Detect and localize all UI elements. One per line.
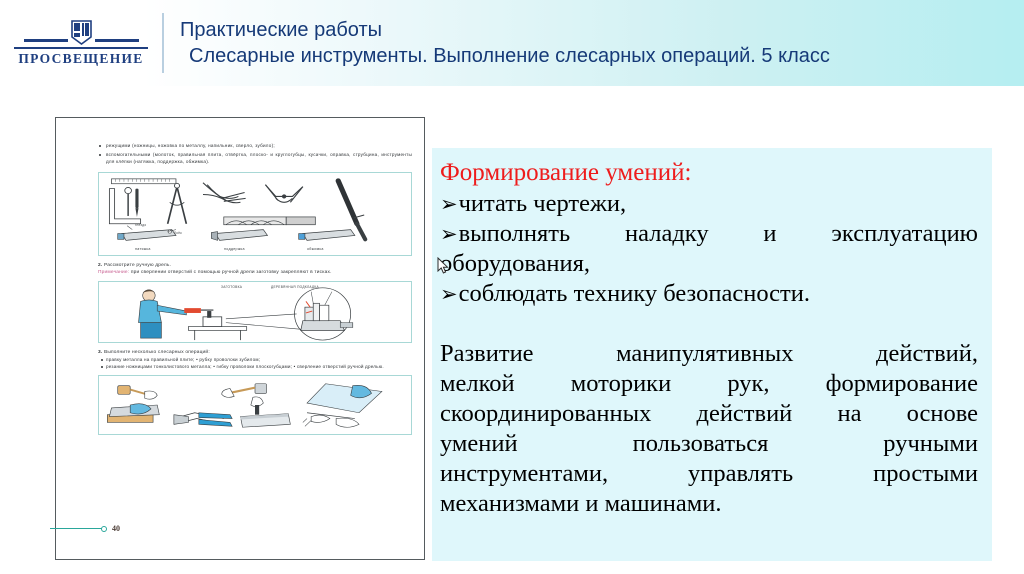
textbook-page-content: режущими (ножницы, ножовка по металлу, н… (56, 118, 424, 559)
skill-item-3: ➢ соблюдать технику безопасности. (440, 279, 978, 309)
figure-slesar-operations (98, 375, 412, 435)
slide-body: режущими (ножницы, ножовка по металлу, н… (0, 86, 1024, 574)
logo-underline (14, 47, 148, 49)
figure-caption-gnezdo: гнездо (135, 223, 146, 227)
figure-caption-podderzhka: поддержка (224, 247, 245, 251)
paragraph-line: скоординированных действий на основе (440, 399, 978, 429)
paragraph-line: инструментами, управлять простыми (440, 459, 978, 489)
list-item: вспомогательными (молоток, правильная пл… (98, 151, 412, 165)
paragraph-line: мелкой моторики рук, формирование (440, 369, 978, 399)
logo-rule-right (95, 39, 139, 42)
step-2-number: 2. (98, 263, 102, 268)
header-divider (162, 13, 164, 73)
skill-item-1: ➢ читать чертежи, (440, 189, 978, 219)
arrow-bullet-icon: ➢ (440, 189, 458, 219)
textbook-page-scan: режущими (ножницы, ножовка по металлу, н… (55, 117, 425, 560)
slide-header: ПРОСВЕЩЕНИЕ Практические работы Слесарны… (0, 0, 1024, 86)
figure-caption-obzhimka: обжимка (307, 247, 324, 251)
development-paragraph: Развитие манипулятивных действий, мелкой… (440, 339, 978, 519)
page-rule (50, 528, 102, 530)
list-item: резание ножницами тонколистового металла… (106, 363, 412, 370)
note-text: при сверлении отверстий с помощью ручной… (131, 270, 332, 275)
list-item: правку металла на правильной плите; • ру… (106, 356, 412, 363)
paragraph-line: механизмами и машинами. (440, 489, 978, 519)
skill-item-2-continuation: оборудования, (440, 249, 978, 279)
skill-item-label: читать чертежи, (459, 189, 627, 219)
step-3-text: Выполните несколько слесарных операций: (104, 350, 210, 355)
logo-mark (14, 19, 148, 45)
page-title: Практические работы (180, 17, 830, 43)
page-number: 40 (112, 524, 120, 533)
publisher-logo: ПРОСВЕЩЕНИЕ (0, 0, 162, 86)
book-shield-icon (71, 20, 92, 45)
logo-rule-left (24, 39, 68, 42)
textbook-step-2: 2. Рассмотрите ручную дрель. Примечание:… (98, 262, 412, 276)
figure-slesar-tools: гнездо боёк натяжка поддержка обжимка (98, 172, 412, 256)
figure-caption-boek: боёк (174, 231, 182, 235)
info-panel: Формирование умений: ➢ читать чертежи, ➢… (432, 148, 992, 561)
arrow-bullet-icon: ➢ (440, 219, 458, 249)
skill-item-label: выполнять наладку и эксплуатацию (459, 219, 978, 249)
list-item: режущими (ножницы, ножовка по металлу, н… (98, 142, 412, 149)
figure-hand-drill-vise: ЗАГОТОВКА ДЕРЕВЯННАЯ ПОДКЛАДКА (98, 281, 412, 343)
paragraph-line: умений пользоваться ручными (440, 429, 978, 459)
step-3-number: 3. (98, 350, 102, 355)
figure-caption-natyazhka: натяжка (135, 247, 151, 251)
logo-wordmark: ПРОСВЕЩЕНИЕ (18, 51, 143, 67)
page-dot-icon (101, 526, 107, 532)
tool-categories-list: режущими (ножницы, ножовка по металлу, н… (98, 142, 412, 166)
header-titles: Практические работы Слесарные инструмент… (180, 17, 830, 70)
step-2-text: Рассмотрите ручную дрель. (104, 263, 171, 268)
figure-caption-derevyannaya-podkladka: ДЕРЕВЯННАЯ ПОДКЛАДКА (271, 285, 319, 289)
textbook-step-3: 3. Выполните несколько слесарных операци… (98, 349, 412, 370)
page-subtitle: Слесарные инструменты. Выполнение слесар… (180, 43, 830, 70)
figure-caption-zagotovka: ЗАГОТОВКА (221, 285, 242, 289)
page-number-row: 40 (50, 524, 120, 533)
skill-item-label: соблюдать технику безопасности. (459, 279, 810, 309)
skill-item-2: ➢ выполнять наладку и эксплуатацию (440, 219, 978, 249)
arrow-bullet-icon: ➢ (440, 279, 458, 309)
step-3-sublist: правку металла на правильной плите; • ру… (98, 356, 412, 370)
note-label: Примечание: (98, 270, 129, 275)
skills-heading: Формирование умений: (440, 158, 978, 188)
paragraph-line: Развитие манипулятивных действий, (440, 339, 978, 369)
